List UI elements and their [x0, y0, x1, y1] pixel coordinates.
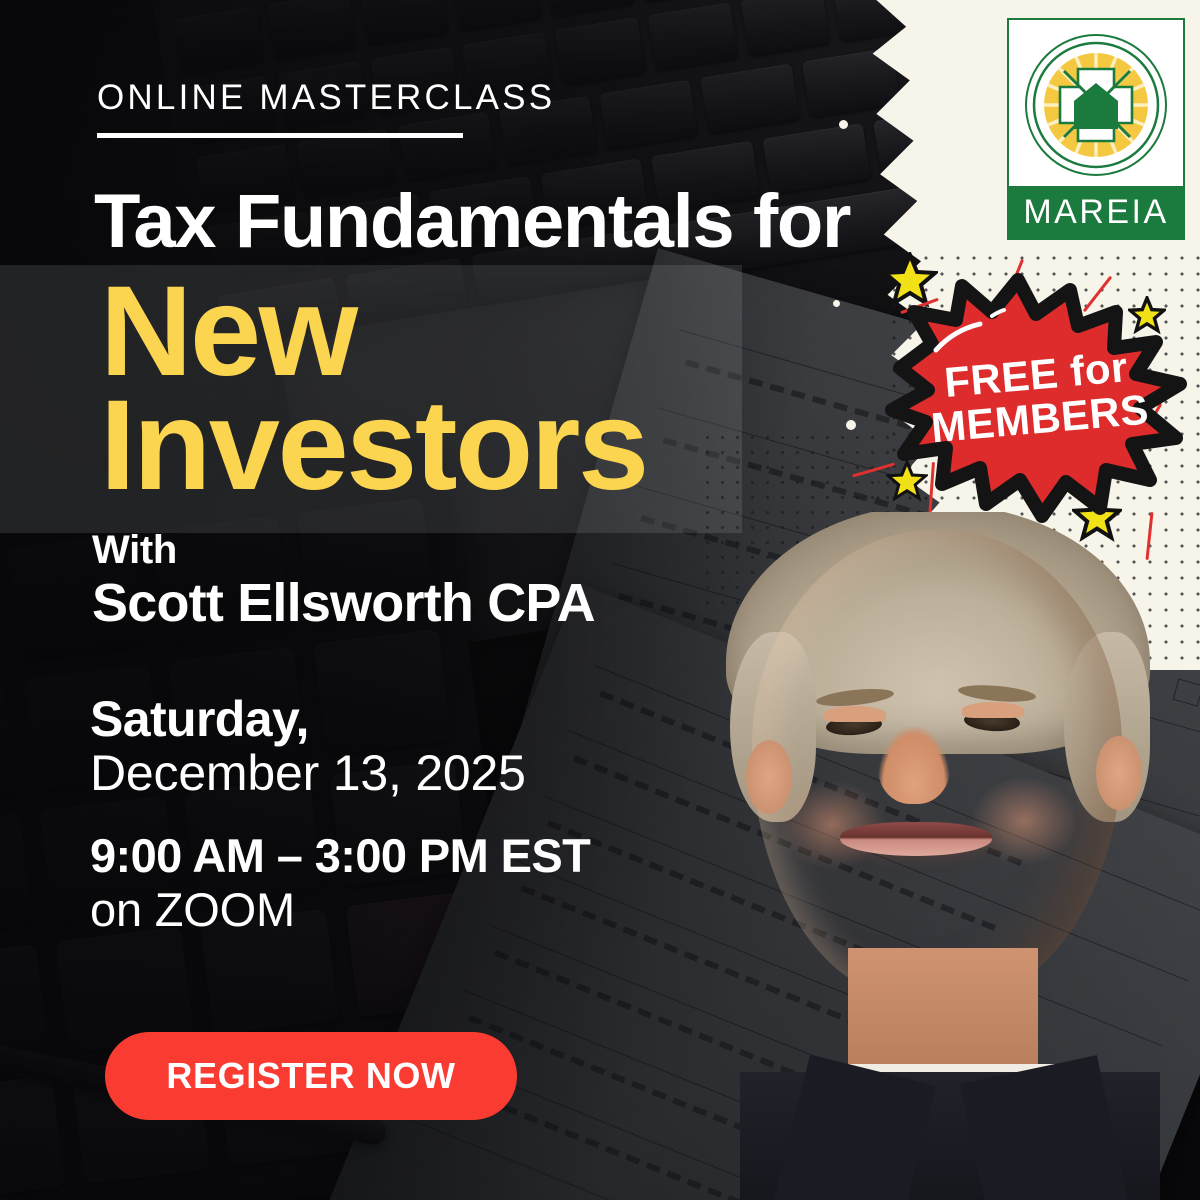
register-now-label: REGISTER NOW [166, 1055, 455, 1097]
speaker-name: Scott Ellsworth CPA [92, 572, 595, 634]
event-day: Saturday, [90, 690, 309, 748]
headline-yellow-line-2: Investors [100, 386, 860, 506]
register-now-button[interactable]: REGISTER NOW [105, 1032, 517, 1120]
eyebrow-label: ONLINE MASTERCLASS [97, 78, 555, 118]
poster-content: ONLINE MASTERCLASS Tax Fundamentals for … [0, 0, 1200, 1200]
with-label: With [92, 528, 177, 573]
event-date: December 13, 2025 [90, 744, 526, 802]
event-platform: on ZOOM [90, 882, 295, 937]
promo-poster: MAREIA FREE for MEMBERS [0, 0, 1200, 1200]
event-time: 9:00 AM – 3:00 PM EST [90, 828, 590, 883]
page-title: Tax Fundamentals for [94, 184, 974, 260]
page-title-highlight: New Investors [100, 272, 860, 507]
eyebrow-divider [97, 133, 463, 138]
